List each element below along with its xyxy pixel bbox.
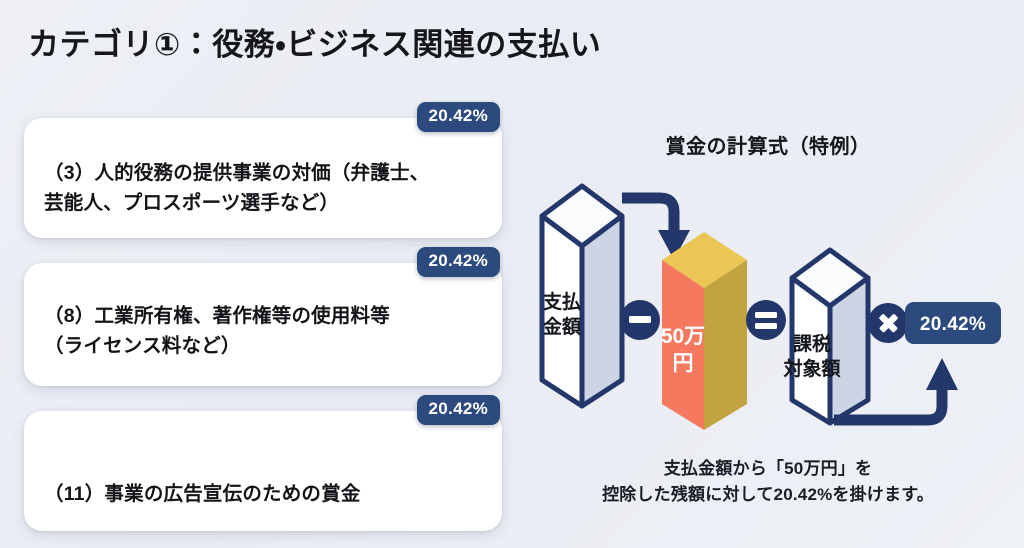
box-side-face	[582, 216, 622, 406]
box-taxable-amount: 課税 対象額	[782, 250, 868, 423]
diagram-caption: 支払金額から「50万円」を 控除した残額に対して20.42%を掛けます。	[512, 456, 1024, 509]
diagram-rate-badge: 20.42%	[905, 302, 1001, 344]
category-card-list: 20.42% （3）人的役務の提供事業の対価（弁護士、 芸能人、プロスポーツ選手…	[24, 118, 502, 531]
category-card-3[interactable]: 20.42% （3）人的役務の提供事業の対価（弁護士、 芸能人、プロスポーツ選手…	[24, 118, 502, 238]
rate-badge: 20.42%	[417, 247, 500, 277]
category-card-11[interactable]: 20.42% （11）事業の広告宣伝のための賞金	[24, 411, 502, 531]
category-card-text: （11）事業の広告宣伝のための賞金	[44, 437, 482, 509]
box-label-line2: 金額	[543, 315, 582, 338]
formula-diagram: 賞金の計算式（特例） 支払 金額	[512, 118, 1024, 538]
operator-equals-icon	[746, 300, 786, 340]
formula-diagram-svg: 支払 金額 50万 円	[512, 168, 1024, 448]
operator-multiply-icon	[868, 303, 908, 343]
operator-minus-icon	[620, 300, 660, 340]
rate-badge: 20.42%	[417, 395, 500, 425]
box-side-face	[830, 278, 868, 423]
box-payment-amount: 支払 金額	[542, 186, 622, 406]
category-card-8[interactable]: 20.42% （8）工業所有権、著作権等の使用料等 （ライセンス料など）	[24, 263, 502, 386]
box-label-line1: 50万	[661, 325, 705, 348]
category-card-text: （3）人的役務の提供事業の対価（弁護士、 芸能人、プロスポーツ選手など）	[44, 144, 482, 218]
box-label-line1: 課税	[793, 332, 831, 355]
rate-badge: 20.42%	[417, 102, 500, 132]
category-card-text: （8）工業所有権、著作権等の使用料等 （ライセンス料など）	[44, 289, 482, 361]
box-side-face	[704, 260, 747, 430]
box-label-line2: 対象額	[782, 357, 841, 380]
slide-root: カテゴリ①：役務・ビジネス関連の支払い 20.42% （3）人的役務の提供事業の…	[0, 0, 1024, 548]
box-label-line2: 円	[673, 352, 694, 375]
page-title: カテゴリ①：役務・ビジネス関連の支払い	[28, 26, 601, 63]
box-deduction-500k: 50万 円	[661, 232, 747, 430]
box-label-line1: 支払	[543, 290, 581, 313]
diagram-rate-badge-label: 20.42%	[920, 314, 986, 335]
diagram-title: 賞金の計算式（特例）	[512, 130, 1024, 159]
